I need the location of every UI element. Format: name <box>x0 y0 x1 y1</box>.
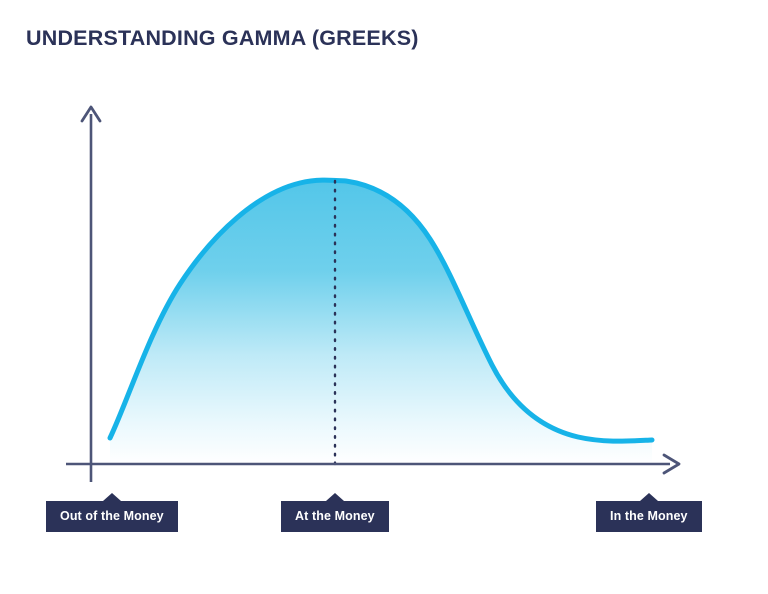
axis-label-at-the-money: At the Money <box>281 501 389 532</box>
gamma-area-fill <box>110 180 652 464</box>
axis-label-text: In the Money <box>610 509 688 523</box>
axis-label-out-of-the-money: Out of the Money <box>46 501 178 532</box>
label-notch-icon <box>640 493 658 501</box>
axis-label-text: Out of the Money <box>60 509 164 523</box>
label-notch-icon <box>326 493 344 501</box>
axis-label-in-the-money: In the Money <box>596 501 702 532</box>
axis-label-text: At the Money <box>295 509 375 523</box>
chart-root: UNDERSTANDING GAMMA (GREEKS) <box>0 0 768 594</box>
label-notch-icon <box>103 493 121 501</box>
